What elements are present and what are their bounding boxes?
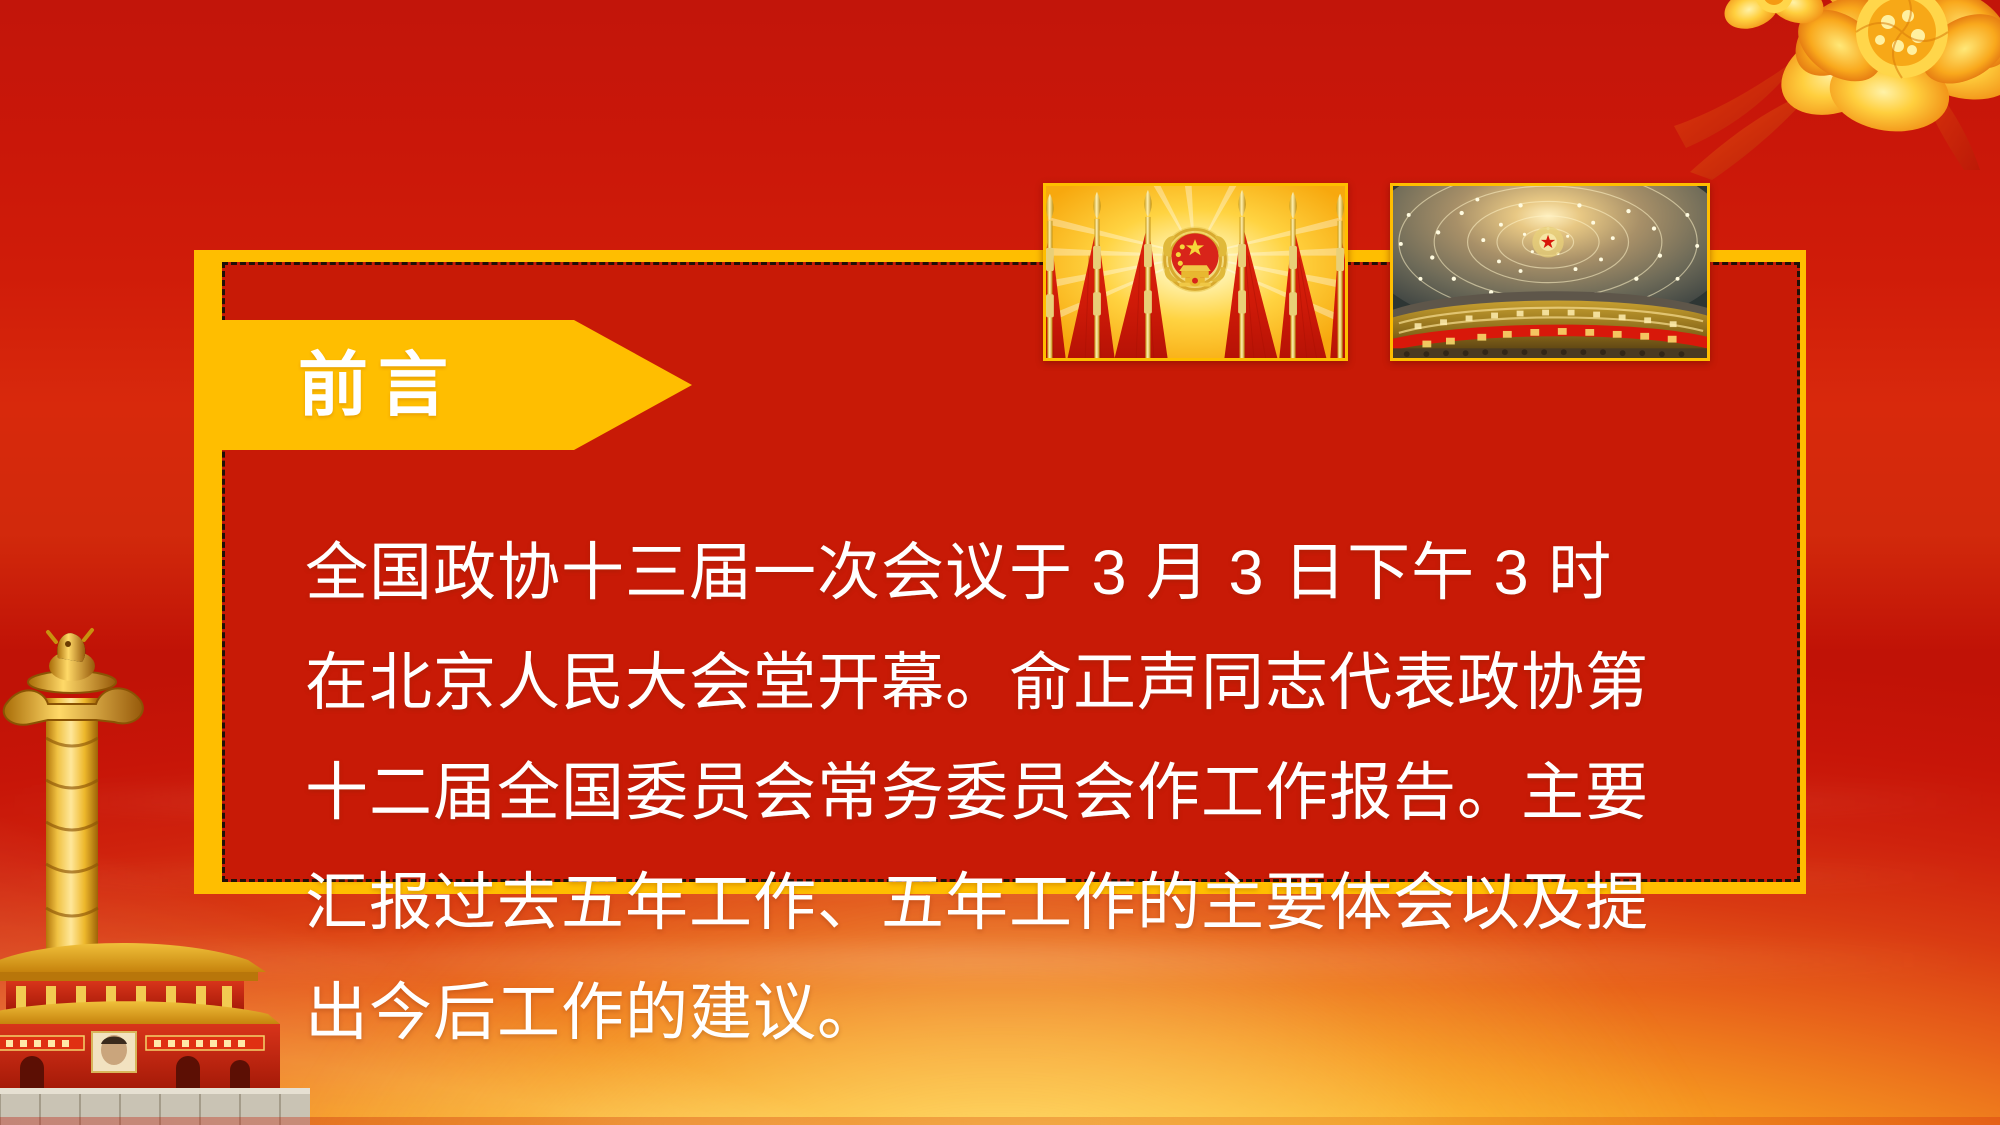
slide-canvas: 前言: [0, 0, 2000, 1125]
tiananmen-gate-icon: [0, 910, 310, 1125]
bottom-strip: [0, 1117, 2000, 1125]
body-line: 汇报过去五年工作、五年工作的主要体会以及提: [305, 848, 1700, 958]
body-text: 全国政协十三届一次会议于 3 月 3 日下午 3 时 在北京人民大会堂开幕。俞正…: [305, 518, 1700, 1068]
great-hall-photo: [1390, 183, 1710, 361]
peony-flower-icon: [1664, 0, 2000, 188]
national-flags-photo: [1043, 183, 1348, 361]
body-line: 十二届全国委员会常务委员会作工作报告。主要: [305, 738, 1700, 848]
body-line: 全国政协十三届一次会议于 3 月 3 日下午 3 时: [305, 518, 1700, 628]
body-line: 出今后工作的建议。: [305, 958, 1700, 1068]
page-title: 前言: [298, 350, 458, 420]
body-line: 在北京人民大会堂开幕。俞正声同志代表政协第: [305, 628, 1700, 738]
national-emblem: [1162, 227, 1229, 293]
